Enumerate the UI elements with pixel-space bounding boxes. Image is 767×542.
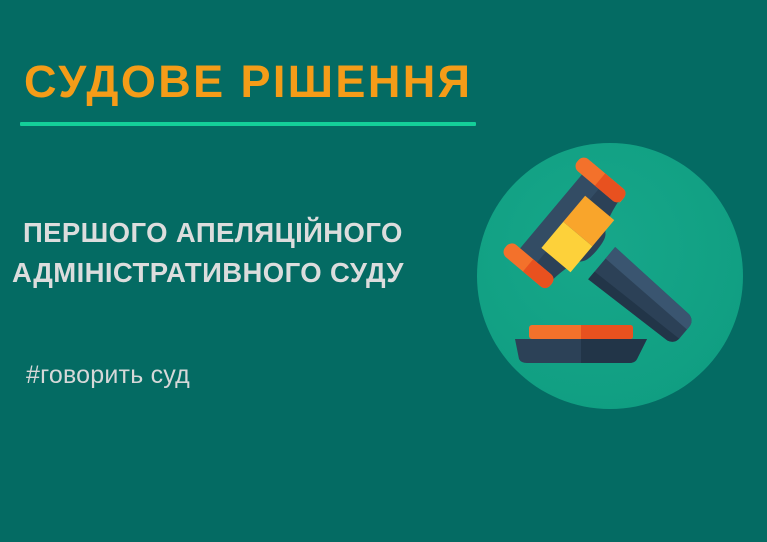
gavel-badge [477, 143, 743, 409]
subtitle-block: ПЕРШОГО АПЕЛЯЦІЙНОГО АДМІНІСТРАТИВНОГО С… [12, 213, 482, 293]
title-underline-rule [20, 122, 476, 126]
poster-canvas: СУДОВЕ РІШЕННЯ ПЕРШОГО АПЕЛЯЦІЙНОГО АДМІ… [0, 0, 767, 542]
gavel-sound-block [515, 325, 647, 363]
subtitle-line-2: АДМІНІСТРАТИВНОГО СУДУ [12, 253, 482, 293]
subtitle-line-1: ПЕРШОГО АПЕЛЯЦІЙНОГО [12, 213, 482, 253]
title-block: СУДОВЕ РІШЕННЯ [24, 58, 494, 105]
page-title: СУДОВЕ РІШЕННЯ [24, 58, 494, 105]
hashtag-label: #говорить суд [26, 361, 190, 390]
gavel-icon [477, 143, 743, 409]
